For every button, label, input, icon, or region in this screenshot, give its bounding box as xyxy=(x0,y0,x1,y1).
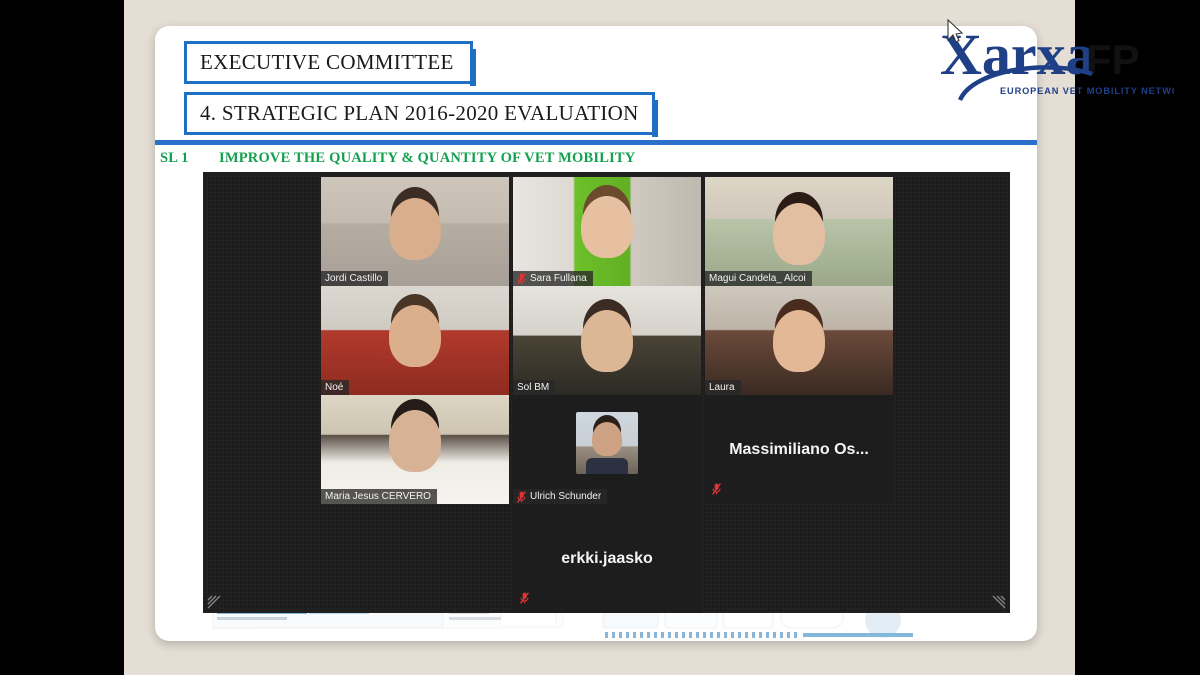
microphone-off-icon xyxy=(517,273,526,285)
strategic-line-code: SL 1 xyxy=(160,150,189,167)
title-box-1-edge xyxy=(470,49,476,86)
participant-name-label: Laura xyxy=(709,382,735,393)
participant-grid: Jordi CastilloSara FullanaMagui Candela_… xyxy=(203,172,1010,613)
microphone-off-icon xyxy=(520,592,529,604)
microphone-off-icon xyxy=(712,483,721,495)
microphone-off-icon xyxy=(517,491,526,503)
participant-tile[interactable]: Maria Jesus CERVERO xyxy=(321,395,509,504)
participant-name-label: Noé xyxy=(325,382,343,393)
title-box-2-edge xyxy=(652,100,658,137)
participant-tile[interactable]: erkki.jaasko xyxy=(513,504,701,613)
participant-silhouette xyxy=(389,410,441,472)
participant-name-center: erkki.jaasko xyxy=(513,504,701,613)
participant-silhouette xyxy=(581,196,633,258)
participant-name-bar: Magui Candela_ Alcoi xyxy=(705,271,812,286)
participant-tile[interactable]: Sol BM xyxy=(513,286,701,395)
participant-name-bar: Sol BM xyxy=(513,380,555,395)
participant-name-label: Sara Fullana xyxy=(530,273,587,284)
strategic-line-row: SL 1 IMPROVE THE QUALITY & QUANTITY OF V… xyxy=(155,150,1037,172)
participant-name-bar: Jordi Castillo xyxy=(321,271,388,286)
participant-mute-indicator xyxy=(712,482,721,500)
screen: EXECUTIVE COMMITTEE 4. STRATEGIC PLAN 20… xyxy=(0,0,1200,675)
participant-name-bar: Laura xyxy=(705,380,741,395)
participant-name-label: Magui Candela_ Alcoi xyxy=(709,273,806,284)
participant-name-center: Massimiliano Os... xyxy=(705,395,893,504)
title-box-strategic-plan: 4. STRATEGIC PLAN 2016-2020 EVALUATION xyxy=(184,92,655,135)
participant-name-bar: Ulrich Schunder xyxy=(513,489,607,504)
participant-tile[interactable]: Laura xyxy=(705,286,893,395)
participant-silhouette xyxy=(581,310,633,372)
participant-name-bar: Sara Fullana xyxy=(513,271,593,286)
resize-handle-bottom-right-icon[interactable] xyxy=(992,595,1006,609)
participant-tile[interactable]: Magui Candela_ Alcoi xyxy=(705,177,893,286)
participant-silhouette xyxy=(773,310,825,372)
video-conference-panel[interactable]: Jordi CastilloSara FullanaMagui Candela_… xyxy=(203,172,1010,613)
header-divider xyxy=(155,140,1037,145)
participant-silhouette xyxy=(773,203,825,265)
title-box-1-label: EXECUTIVE COMMITTEE xyxy=(200,50,454,75)
title-box-2-label: 4. STRATEGIC PLAN 2016-2020 EVALUATION xyxy=(200,101,639,126)
logo-word-secondary: FP xyxy=(1086,36,1140,83)
slide-card: EXECUTIVE COMMITTEE 4. STRATEGIC PLAN 20… xyxy=(155,26,1037,641)
participant-tile[interactable]: Noé xyxy=(321,286,509,395)
participant-name-label: Maria Jesus CERVERO xyxy=(325,491,431,502)
logo-word-primary: Xarxa xyxy=(940,22,1095,87)
participant-silhouette xyxy=(389,198,441,260)
participant-silhouette xyxy=(389,305,441,367)
participant-name-label: Sol BM xyxy=(517,382,549,393)
title-box-executive-committee: EXECUTIVE COMMITTEE xyxy=(184,41,473,84)
participant-tile[interactable]: Jordi Castillo xyxy=(321,177,509,286)
logo-tagline: EUROPEAN VET MOBILITY NETWORK xyxy=(1000,86,1174,96)
participant-name-label: Jordi Castillo xyxy=(325,273,382,284)
resize-handle-bottom-left-icon[interactable] xyxy=(207,595,221,609)
strategic-line-text: IMPROVE THE QUALITY & QUANTITY OF VET MO… xyxy=(219,150,635,167)
participant-tile[interactable]: Ulrich Schunder xyxy=(513,395,701,504)
participant-avatar xyxy=(576,412,638,474)
participant-tile[interactable]: Sara Fullana xyxy=(513,177,701,286)
participant-name-label: Ulrich Schunder xyxy=(530,491,601,502)
participant-tile[interactable]: Massimiliano Os... xyxy=(705,395,893,504)
participant-name-bar: Noé xyxy=(321,380,349,395)
participant-name-bar: Maria Jesus CERVERO xyxy=(321,489,437,504)
xarxafp-logo: Xarxa FP EUROPEAN VET MOBILITY NETWORK xyxy=(934,18,1174,106)
participant-mute-indicator xyxy=(520,591,529,609)
